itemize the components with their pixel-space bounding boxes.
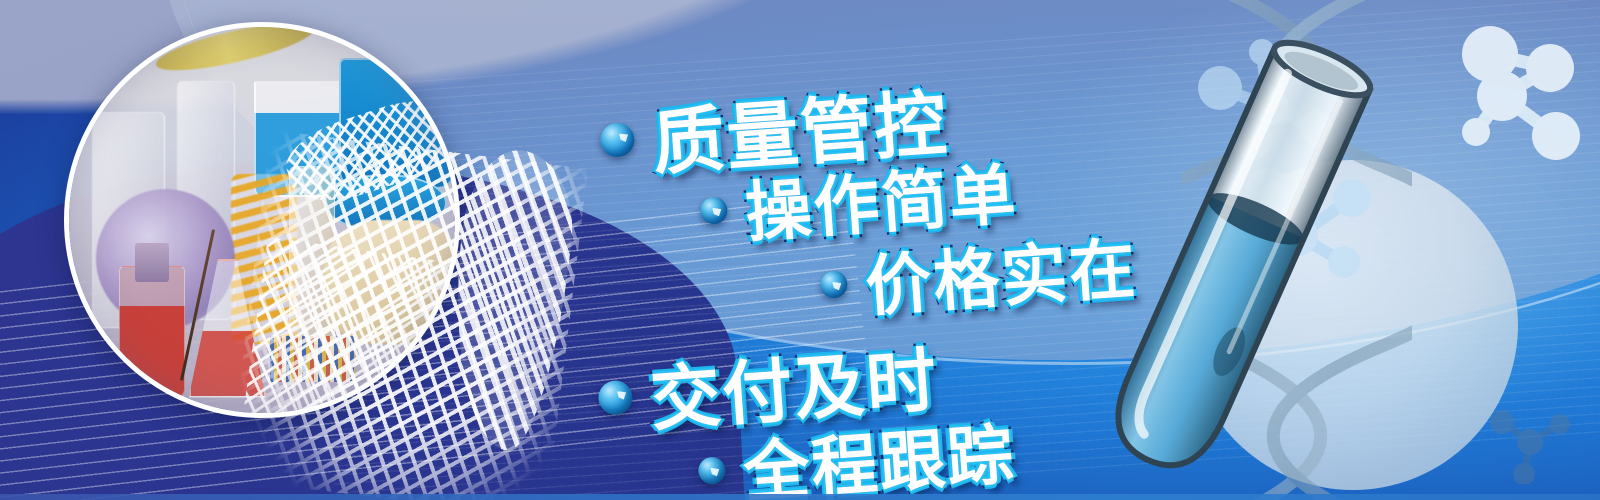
bottom-accent-strip xyxy=(0,494,1600,500)
sphere-bullet-icon xyxy=(699,196,728,225)
sphere-bullet-icon xyxy=(819,270,848,299)
molecule-icon-3 xyxy=(1432,18,1600,178)
molecule-icon-4 xyxy=(1480,392,1576,484)
sphere-bullet-icon xyxy=(599,121,635,157)
laboratory-photo-circle xyxy=(64,22,460,418)
sphere-bullet-icon xyxy=(697,456,726,485)
lab-services-banner: 质量管控 操作简单 价格实在 交付及时 全程跟踪 xyxy=(0,0,1600,500)
photo-vignette xyxy=(69,27,455,413)
sphere-bullet-icon xyxy=(597,379,633,415)
headline-text-3: 价格实在 xyxy=(862,215,1140,330)
